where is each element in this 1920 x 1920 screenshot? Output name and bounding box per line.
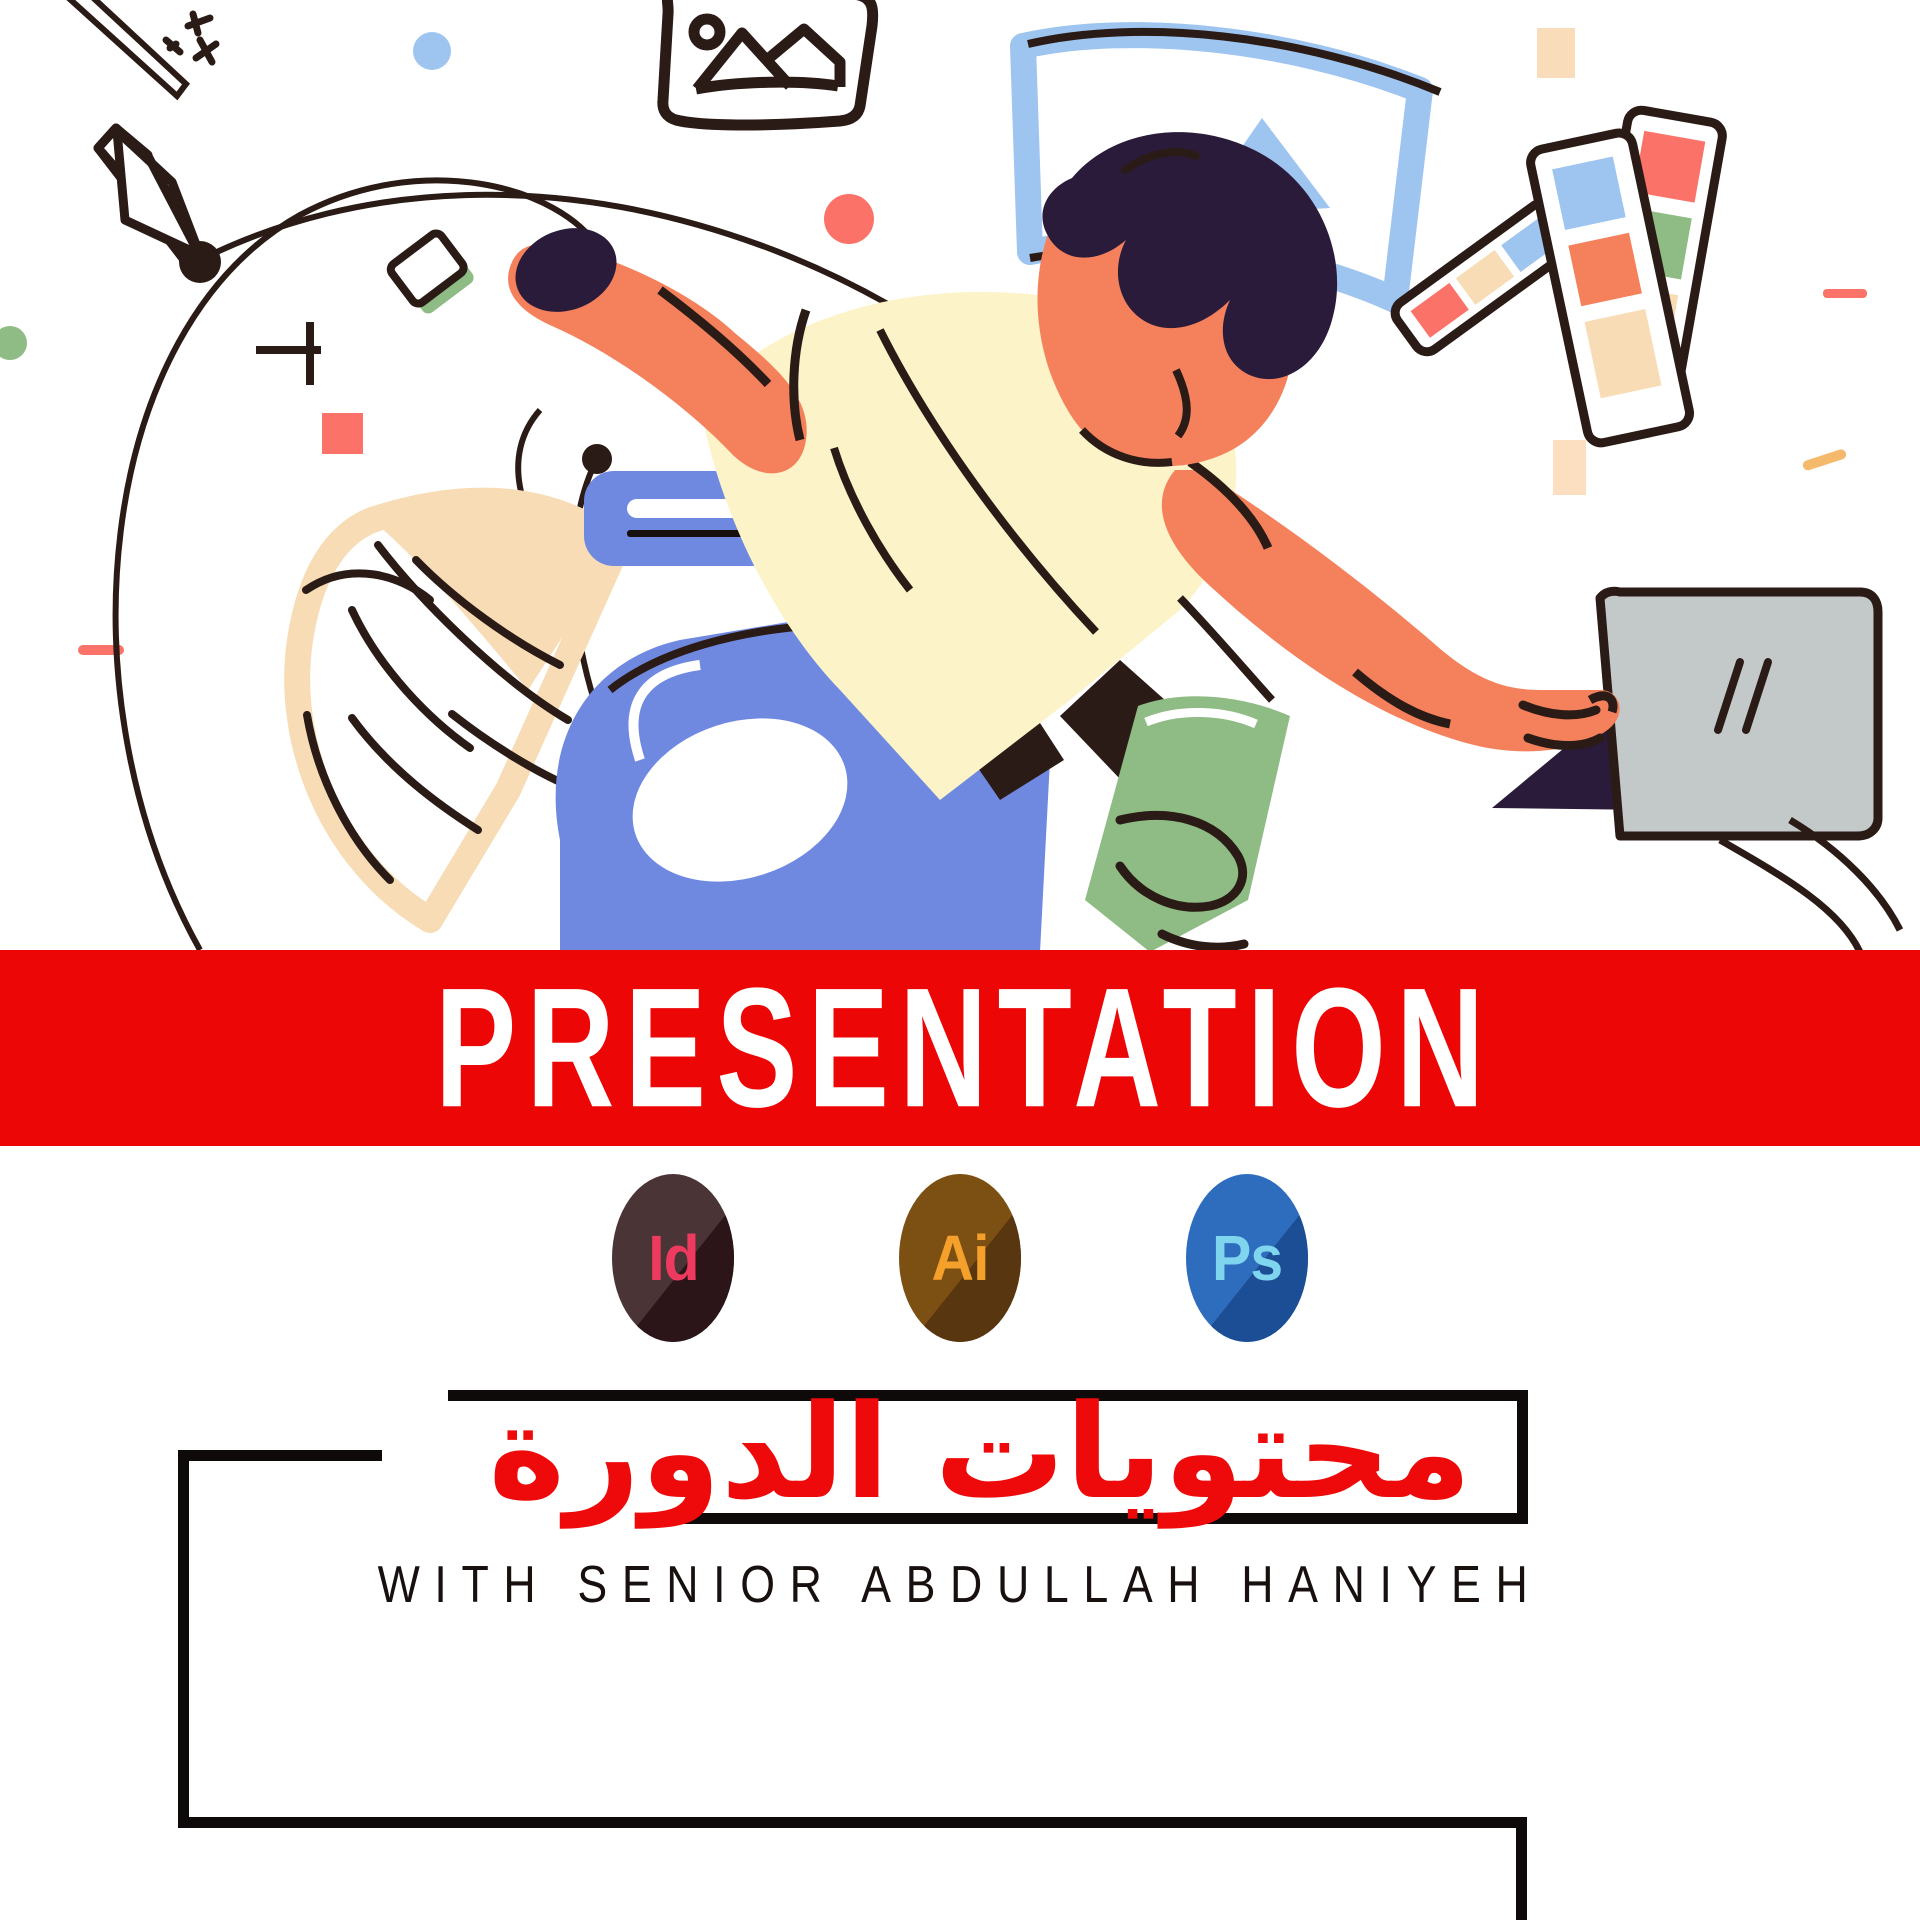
hero-illustration [0,0,1920,952]
instructor-subtitle: WITH SENIOR ABDULLAH HANIYEH [134,1555,1785,1615]
outer-frame-top-stub [178,1450,382,1461]
app-icon-photoshop[interactable]: Ps [1186,1174,1308,1342]
arabic-course-title: محتويات الدورة [430,1372,1530,1532]
app-icon-label: Id [648,1226,698,1290]
poster-canvas: PRESENTATION Id Ai Ps محتويات الدورة WIT… [0,0,1920,1920]
outer-frame-left [178,1450,189,1828]
outer-frame-right-stub [1516,1817,1527,1920]
presentation-banner: PRESENTATION [0,950,1920,1146]
app-icon-indesign[interactable]: Id [612,1174,734,1342]
outer-frame-bottom [178,1817,1527,1828]
app-icon-illustrator[interactable]: Ai [899,1174,1021,1342]
adobe-app-icons: Id Ai Ps [0,1168,1920,1348]
page-title: PRESENTATION [425,963,1495,1133]
app-icon-label: Ai [931,1226,988,1290]
app-icon-label: Ps [1212,1226,1282,1290]
